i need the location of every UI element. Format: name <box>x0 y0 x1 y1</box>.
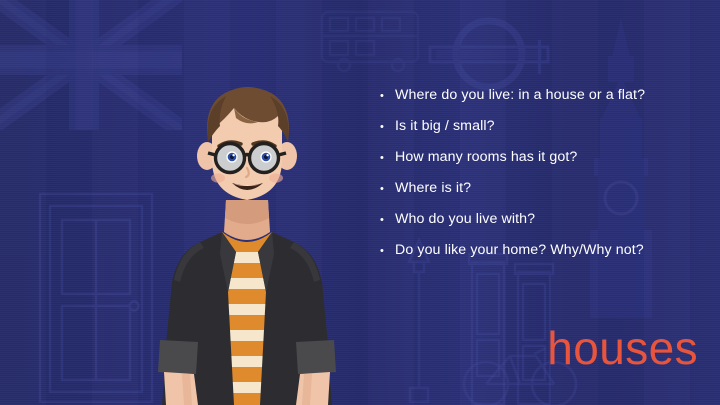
question-text: How many rooms has it got? <box>395 150 577 164</box>
slide-canvas: • Where do you live: in a house or a fla… <box>0 0 720 405</box>
list-item: • Do you like your home? Why/Why not? <box>374 243 704 274</box>
list-item: • Where do you live: in a house or a fla… <box>374 88 704 119</box>
page-title: houses <box>547 325 698 371</box>
question-text: Do you like your home? Why/Why not? <box>395 243 644 257</box>
bullet-marker-icon: • <box>374 184 395 195</box>
bullet-marker-icon: • <box>374 215 395 226</box>
bullet-marker-icon: • <box>374 91 395 102</box>
question-text: Is it big / small? <box>395 119 495 133</box>
question-text: Who do you live with? <box>395 212 535 226</box>
list-item: • Who do you live with? <box>374 212 704 243</box>
character-illustration <box>122 82 372 405</box>
bullet-marker-icon: • <box>374 153 395 164</box>
question-list: • Where do you live: in a house or a fla… <box>374 88 704 274</box>
list-item: • Is it big / small? <box>374 119 704 150</box>
list-item: • Where is it? <box>374 181 704 212</box>
bullet-marker-icon: • <box>374 122 395 133</box>
list-item: • How many rooms has it got? <box>374 150 704 181</box>
question-text: Where is it? <box>395 181 471 195</box>
question-text: Where do you live: in a house or a flat? <box>395 88 645 102</box>
bullet-marker-icon: • <box>374 246 395 257</box>
